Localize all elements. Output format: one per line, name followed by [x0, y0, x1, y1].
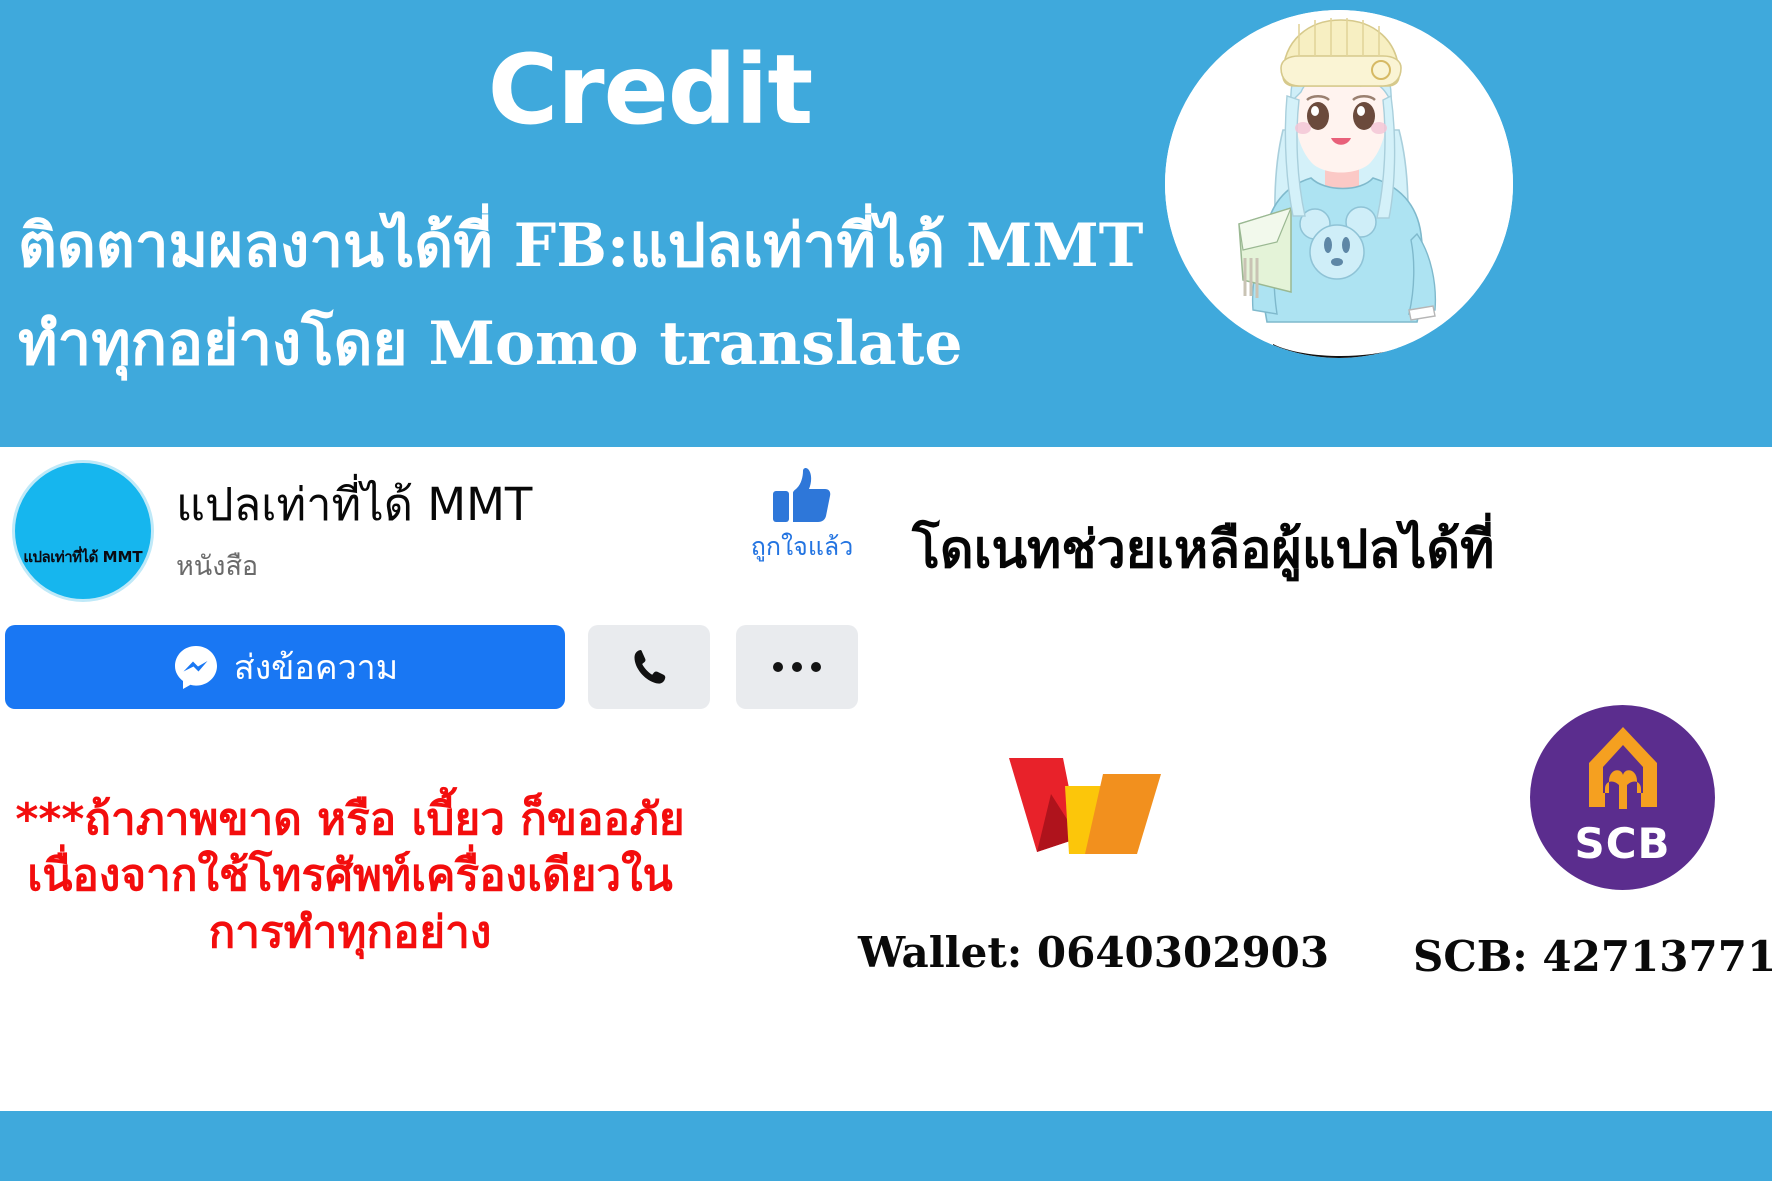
wallet-account-label: Wallet: 0640302903: [858, 928, 1329, 977]
image-quality-warning: ***ถ้าภาพขาด หรือ เบี้ยว ก็ขออภัย เนื่อง…: [0, 792, 700, 961]
scb-account-label: SCB: 4271377161: [1413, 932, 1772, 981]
warning-line-1: ***ถ้าภาพขาด หรือ เบี้ยว ก็ขออภัย: [0, 792, 700, 848]
send-message-button[interactable]: ส่งข้อความ: [5, 625, 565, 709]
warning-line-3: การทำทุกอย่าง: [0, 905, 700, 961]
more-options-button[interactable]: [736, 625, 858, 709]
warning-line-2: เนื่องจากใช้โทรศัพท์เครื่องเดียวใน: [0, 848, 700, 904]
donate-heading: โดเนทช่วยเหลือผู้แปลได้ที่: [912, 507, 1494, 590]
credit-follow-line: ติดตามผลงานได้ที่ FB:แปลเท่าที่ได้ MMT: [18, 198, 1143, 293]
credit-author-line: ทำทุกอย่างโดย Momo translate: [18, 296, 963, 391]
liked-label: ถูกใจแล้ว: [742, 527, 862, 567]
truemoney-wallet-logo: [1005, 742, 1185, 867]
ellipsis-icon: [773, 662, 821, 672]
facebook-page-row: แปลเท่าที่ได้ MMT แปลเท่าที่ได้ MMT หนัง…: [0, 447, 1772, 637]
send-message-label: ส่งข้อความ: [234, 640, 398, 694]
page-logo-text: แปลเท่าที่ได้ MMT: [23, 545, 142, 599]
page-category: หนังสือ: [176, 544, 258, 587]
page-profile-logo[interactable]: แปลเท่าที่ได้ MMT: [12, 460, 154, 602]
liked-button[interactable]: ถูกใจแล้ว: [742, 467, 862, 567]
page-title: Credit: [0, 40, 1300, 141]
messenger-icon: [172, 643, 220, 691]
anime-girl-avatar: [1165, 10, 1513, 358]
scb-leaf-icon: [1569, 723, 1677, 823]
page-name: แปลเท่าที่ได้ MMT: [176, 480, 532, 530]
call-button[interactable]: [588, 625, 710, 709]
footer-bar: [0, 1111, 1772, 1181]
thumbs-up-icon: [771, 467, 833, 525]
credit-page: Credit ติดตามผลงานได้ที่ FB:แปลเท่าที่ได…: [0, 0, 1772, 1181]
page-action-buttons: ส่งข้อความ: [0, 625, 880, 711]
phone-icon: [628, 646, 670, 688]
scb-logo-text: SCB: [1574, 819, 1670, 868]
scb-bank-logo: SCB: [1530, 705, 1715, 890]
